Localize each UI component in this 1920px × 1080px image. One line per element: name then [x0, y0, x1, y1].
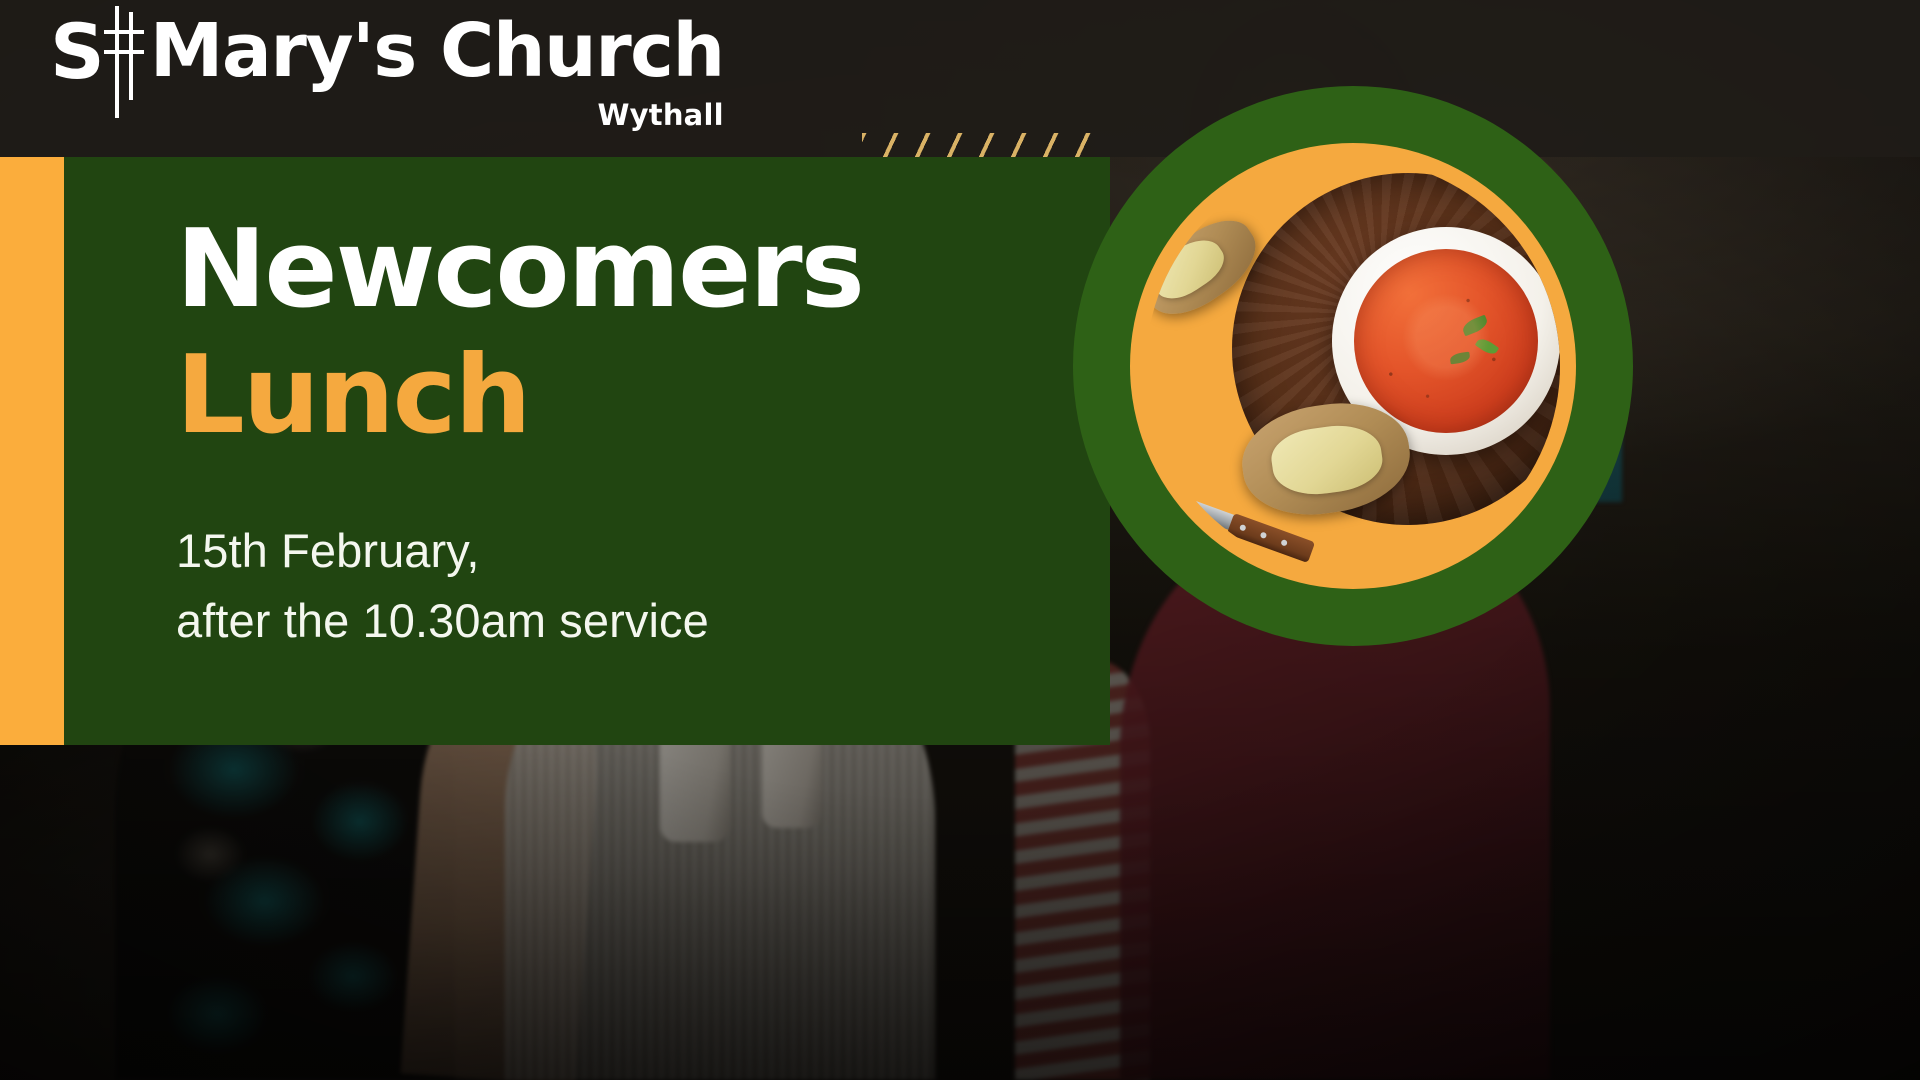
herb-garnish-3 [1449, 352, 1470, 365]
logo-location: Wythall [597, 98, 723, 132]
logo-church-name: Mary's Church [150, 14, 724, 88]
event-details: 15th February, after the 10.30am service [176, 516, 976, 655]
event-title-line-1: Newcomers [176, 216, 976, 324]
church-logo: S Mary's Church Wythall [50, 14, 724, 134]
herb-garnish-1 [1461, 315, 1490, 337]
event-date: 15th February, [176, 516, 976, 586]
cross-icon [102, 6, 144, 118]
event-poster: S Mary's Church Wythall Newcomers Lunch … [0, 0, 1920, 1080]
event-title-line-2: Lunch [176, 342, 976, 450]
accent-bar [0, 157, 64, 745]
tomato-soup [1354, 249, 1538, 433]
logo-letter-s: S [50, 14, 104, 90]
herb-garnish-2 [1475, 336, 1499, 357]
food-photo [1146, 159, 1560, 573]
event-time: after the 10.30am service [176, 586, 976, 656]
event-text-block: Newcomers Lunch 15th February, after the… [176, 216, 976, 655]
